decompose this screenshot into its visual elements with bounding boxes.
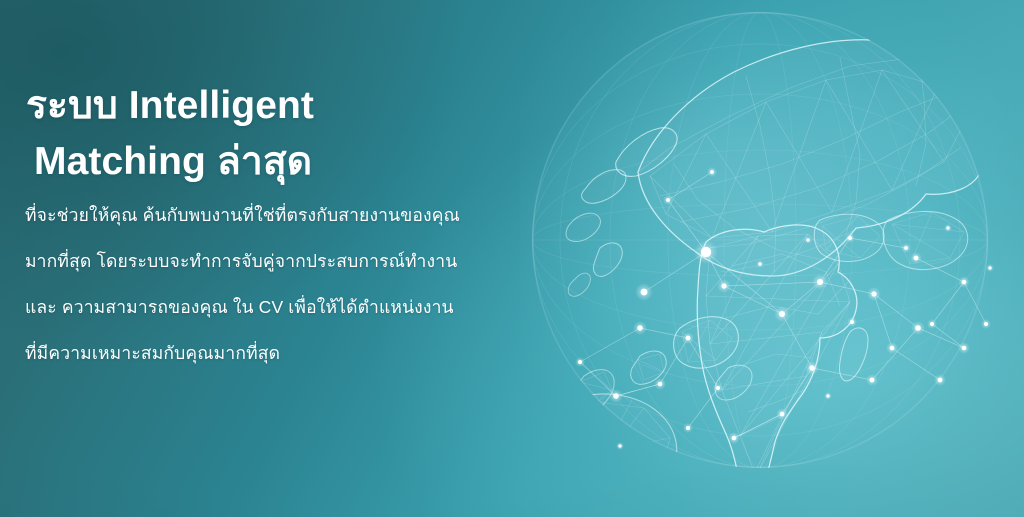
description-line-3: และ ความสามารถของคุณ ใน CV เพื่อให้ได้ตำ… xyxy=(25,284,505,330)
description-line-2: มากที่สุด โดยระบบจะทำการจับคู่จากประสบกา… xyxy=(25,238,505,284)
headline-line-1: ระบบ Intelligent xyxy=(26,84,314,127)
banner-description: ที่จะช่วยให้คุณ ค้นกับพบงานที่ใช่ที่ตรงก… xyxy=(25,192,505,376)
headline-line-2: Matching ล่าสุด xyxy=(26,134,496,190)
promo-banner: ระบบ Intelligent Matching ล่าสุด ที่จะช่… xyxy=(0,0,1024,517)
description-line-4: ที่มีความเหมาะสมกับคุณมากที่สุด xyxy=(25,330,505,376)
banner-text-column: ระบบ Intelligent Matching ล่าสุด ที่จะช่… xyxy=(0,0,520,517)
page-title: ระบบ Intelligent Matching ล่าสุด xyxy=(26,78,496,190)
description-line-1: ที่จะช่วยให้คุณ ค้นกับพบงานที่ใช่ที่ตรงก… xyxy=(25,192,505,238)
